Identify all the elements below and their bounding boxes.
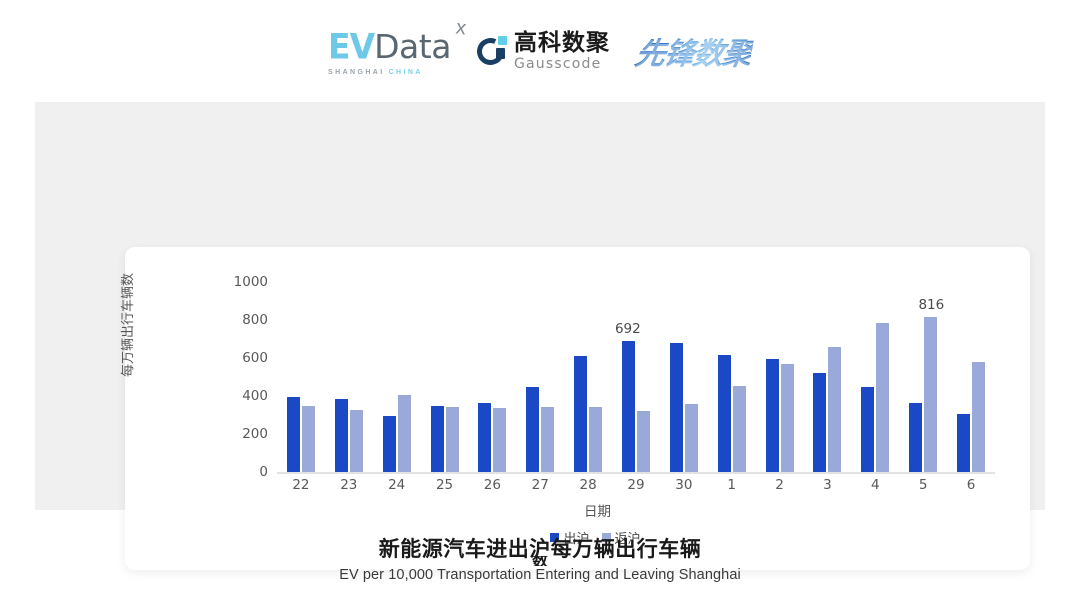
bar — [526, 387, 539, 473]
bar — [685, 404, 698, 472]
x-tick-label: 23 — [340, 477, 357, 493]
bar — [478, 403, 491, 472]
logo-bar: EVData x SHANGHAI CHINA 高科数聚 Gausscode 先… — [0, 20, 1080, 82]
bar — [287, 397, 300, 472]
bar — [493, 408, 506, 472]
bar — [813, 373, 826, 472]
gausscode-en-name: Gausscode — [514, 57, 610, 71]
bar — [924, 317, 937, 472]
y-axis-ticks: 02004006008001000 — [220, 247, 268, 570]
x-tick-label: 28 — [580, 477, 597, 493]
bar-group — [421, 282, 469, 472]
x-axis-title: 日期 — [125, 500, 1030, 520]
bar — [909, 403, 922, 472]
bar-chart: 每万辆出行车辆数 02004006008001000 692816 222324… — [125, 247, 1030, 570]
bar — [622, 341, 635, 472]
caption-clipped-artifact: 数 — [0, 556, 1080, 566]
x-tick-label: 3 — [823, 477, 832, 493]
bar — [335, 399, 348, 472]
bar — [637, 411, 650, 472]
y-tick-label: 0 — [259, 464, 268, 480]
bar-group — [516, 282, 564, 472]
x-tick-label: 4 — [871, 477, 880, 493]
caption-english: EV per 10,000 Transportation Entering an… — [0, 567, 1080, 583]
bar — [733, 386, 746, 472]
bar — [972, 362, 985, 472]
bar-group — [564, 282, 612, 472]
y-tick-label: 600 — [242, 350, 268, 366]
bar — [718, 355, 731, 472]
bar — [589, 407, 602, 472]
chart-card: 每万辆出行车辆数 02004006008001000 692816 222324… — [125, 247, 1030, 570]
bar — [541, 407, 554, 472]
x-tick-label: 1 — [727, 477, 736, 493]
bar-group: 816 — [899, 282, 947, 472]
bar-group — [708, 282, 756, 472]
bar — [383, 416, 396, 472]
x-tick-label: 26 — [484, 477, 501, 493]
bar — [574, 356, 587, 472]
bar-group — [851, 282, 899, 472]
bar — [302, 406, 315, 472]
bar — [350, 410, 363, 472]
x-tick-label: 25 — [436, 477, 453, 493]
bar — [398, 395, 411, 472]
x-tick-label: 2 — [775, 477, 784, 493]
x-tick-label: 27 — [532, 477, 549, 493]
bar-value-label: 692 — [615, 321, 641, 337]
bar — [781, 364, 794, 472]
bar — [957, 414, 970, 472]
bar-group — [660, 282, 708, 472]
bar-group — [373, 282, 421, 472]
evdata-x-icon: x — [455, 17, 468, 38]
gausscode-square-accent-icon — [498, 36, 507, 45]
x-tick-label: 22 — [292, 477, 309, 493]
gausscode-logo: 高科数聚 Gausscode — [477, 32, 610, 71]
bar-group — [468, 282, 516, 472]
gausscode-square-dark-icon — [496, 48, 505, 59]
bar — [828, 347, 841, 472]
slide-page: EVData x SHANGHAI CHINA 高科数聚 Gausscode 先… — [0, 0, 1080, 608]
evdata-wordmark: EVData x — [328, 27, 451, 66]
evdata-logo: EVData x SHANGHAI CHINA — [328, 27, 451, 76]
bar-group: 692 — [612, 282, 660, 472]
x-axis-ticks: 222324252627282930123456 — [277, 477, 995, 497]
x-tick-label: 30 — [675, 477, 692, 493]
bar — [446, 407, 459, 472]
y-tick-label: 800 — [242, 312, 268, 328]
bar — [861, 387, 874, 472]
bar — [876, 323, 889, 472]
evdata-ev-text: EV — [328, 26, 374, 67]
evdata-sub-shanghai: SHANGHAI — [328, 69, 385, 76]
evdata-sub-china: CHINA — [389, 69, 423, 76]
gausscode-mark-icon — [477, 36, 507, 66]
evdata-data-text: Data — [374, 27, 451, 66]
bar-group — [947, 282, 995, 472]
x-tick-label: 24 — [388, 477, 405, 493]
x-axis-line — [277, 472, 995, 474]
bar-group — [325, 282, 373, 472]
bar-group — [804, 282, 852, 472]
bar — [670, 343, 683, 472]
gausscode-cn-name: 高科数聚 — [514, 32, 610, 55]
bar-group — [756, 282, 804, 472]
bar-group — [277, 282, 325, 472]
y-tick-label: 400 — [242, 388, 268, 404]
plot-area: 692816 — [277, 282, 995, 472]
evdata-subtitle: SHANGHAI CHINA — [328, 69, 423, 76]
gausscode-text: 高科数聚 Gausscode — [514, 32, 610, 71]
x-tick-label: 29 — [627, 477, 644, 493]
y-tick-label: 1000 — [234, 274, 268, 290]
bar — [766, 359, 779, 472]
bar-value-label: 816 — [918, 297, 944, 313]
y-tick-label: 200 — [242, 426, 268, 442]
chart-panel-background: 每万辆出行车辆数 02004006008001000 692816 222324… — [35, 102, 1045, 510]
x-tick-label: 6 — [967, 477, 976, 493]
y-axis-title: 每万辆出行车辆数 — [117, 273, 136, 377]
xianfeng-logo: 先锋数聚 — [632, 29, 756, 73]
bar — [431, 406, 444, 473]
x-tick-label: 5 — [919, 477, 928, 493]
